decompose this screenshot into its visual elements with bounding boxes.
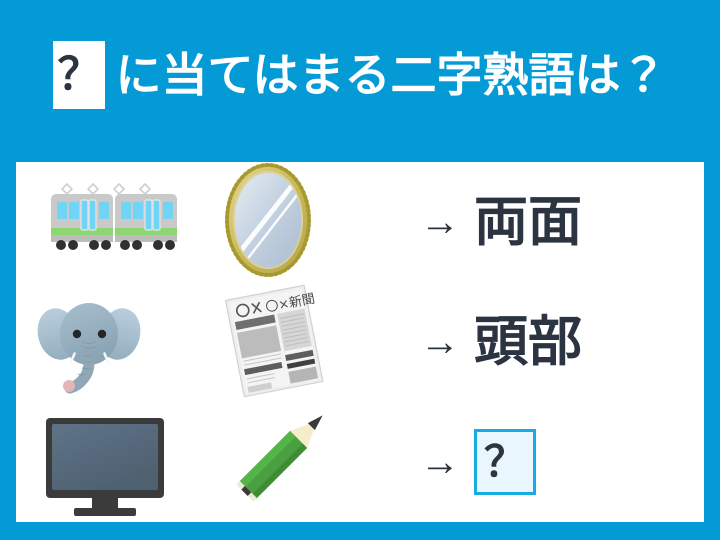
arrow-icon: → <box>420 442 460 482</box>
row-2-right-cell: 〇×新聞 <box>206 282 396 402</box>
mirror-icon <box>206 162 396 282</box>
puzzle-row: → ？ <box>16 402 704 522</box>
answer-text: 頭部 <box>474 315 582 369</box>
elephant-icon <box>16 282 206 402</box>
train-icon <box>16 162 206 282</box>
row-1-left-cell <box>16 162 206 282</box>
newspaper-icon: 〇×新聞 <box>206 282 396 402</box>
header: ？ に当てはまる二字熟語は？ <box>0 0 720 150</box>
answer-text: 両面 <box>474 195 582 249</box>
row-3-left-cell <box>16 402 206 522</box>
answer-unknown-box[interactable]: ？ <box>474 429 536 495</box>
row-3-answer-cell: → ？ <box>396 402 704 522</box>
puzzle-card: → 両面 <box>16 162 704 522</box>
row-1-answer-cell: → 両面 <box>396 162 704 282</box>
page-title: に当てはまる二字熟語は？ <box>115 52 666 98</box>
header-chip-symbol: ？ <box>57 53 101 97</box>
row-2-left-cell <box>16 282 206 402</box>
row-2-answer-cell: → 頭部 <box>396 282 704 402</box>
quiz-slide: ？ に当てはまる二字熟語は？ <box>0 0 720 540</box>
pencil-icon <box>206 402 396 522</box>
row-1-right-cell <box>206 162 396 282</box>
monitor-icon <box>16 402 206 522</box>
header-question-chip: ？ <box>53 41 105 109</box>
arrow-icon: → <box>420 202 460 242</box>
arrow-icon: → <box>420 322 460 362</box>
puzzle-row: → 両面 <box>16 162 704 282</box>
puzzle-row: 〇×新聞 <box>16 282 704 402</box>
row-3-right-cell <box>206 402 396 522</box>
